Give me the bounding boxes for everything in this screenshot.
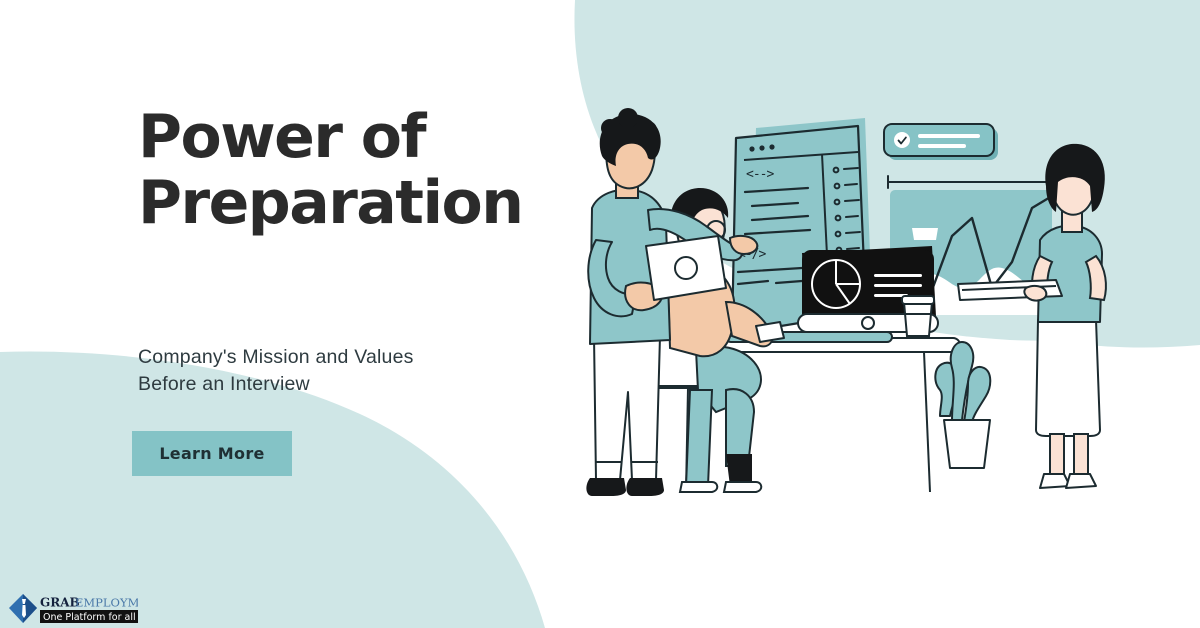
- marketing-banner: Power of Preparation Company's Mission a…: [0, 0, 1200, 628]
- code-tag-open: <-->: [746, 167, 774, 182]
- notification-card: [884, 124, 998, 160]
- grab-employment-logo[interactable]: GRAB EMPLOYMENT One Platform for all job…: [6, 592, 138, 625]
- stacked-cups: [912, 228, 938, 240]
- logo-brand-primary: GRAB: [40, 596, 80, 610]
- plant-pot: [944, 420, 990, 468]
- learn-more-button[interactable]: Learn More: [132, 431, 292, 476]
- cactus-leaves: [935, 342, 990, 422]
- potted-cactus: [935, 342, 990, 468]
- logo-tagline: One Platform for all jobs: [43, 612, 138, 623]
- check-circle-icon: [894, 132, 910, 148]
- tablet-device: [646, 236, 726, 300]
- logo-brand-secondary: EMPLOYMENT: [75, 596, 138, 610]
- page-title: Power of Preparation: [138, 104, 558, 236]
- headline-block: Power of Preparation: [138, 104, 558, 236]
- subtitle-text: Company's Mission and Values Before an I…: [138, 344, 558, 398]
- coffee-cup: [902, 296, 934, 336]
- teamwork-office-illustration: <--> <-/>: [540, 90, 1200, 530]
